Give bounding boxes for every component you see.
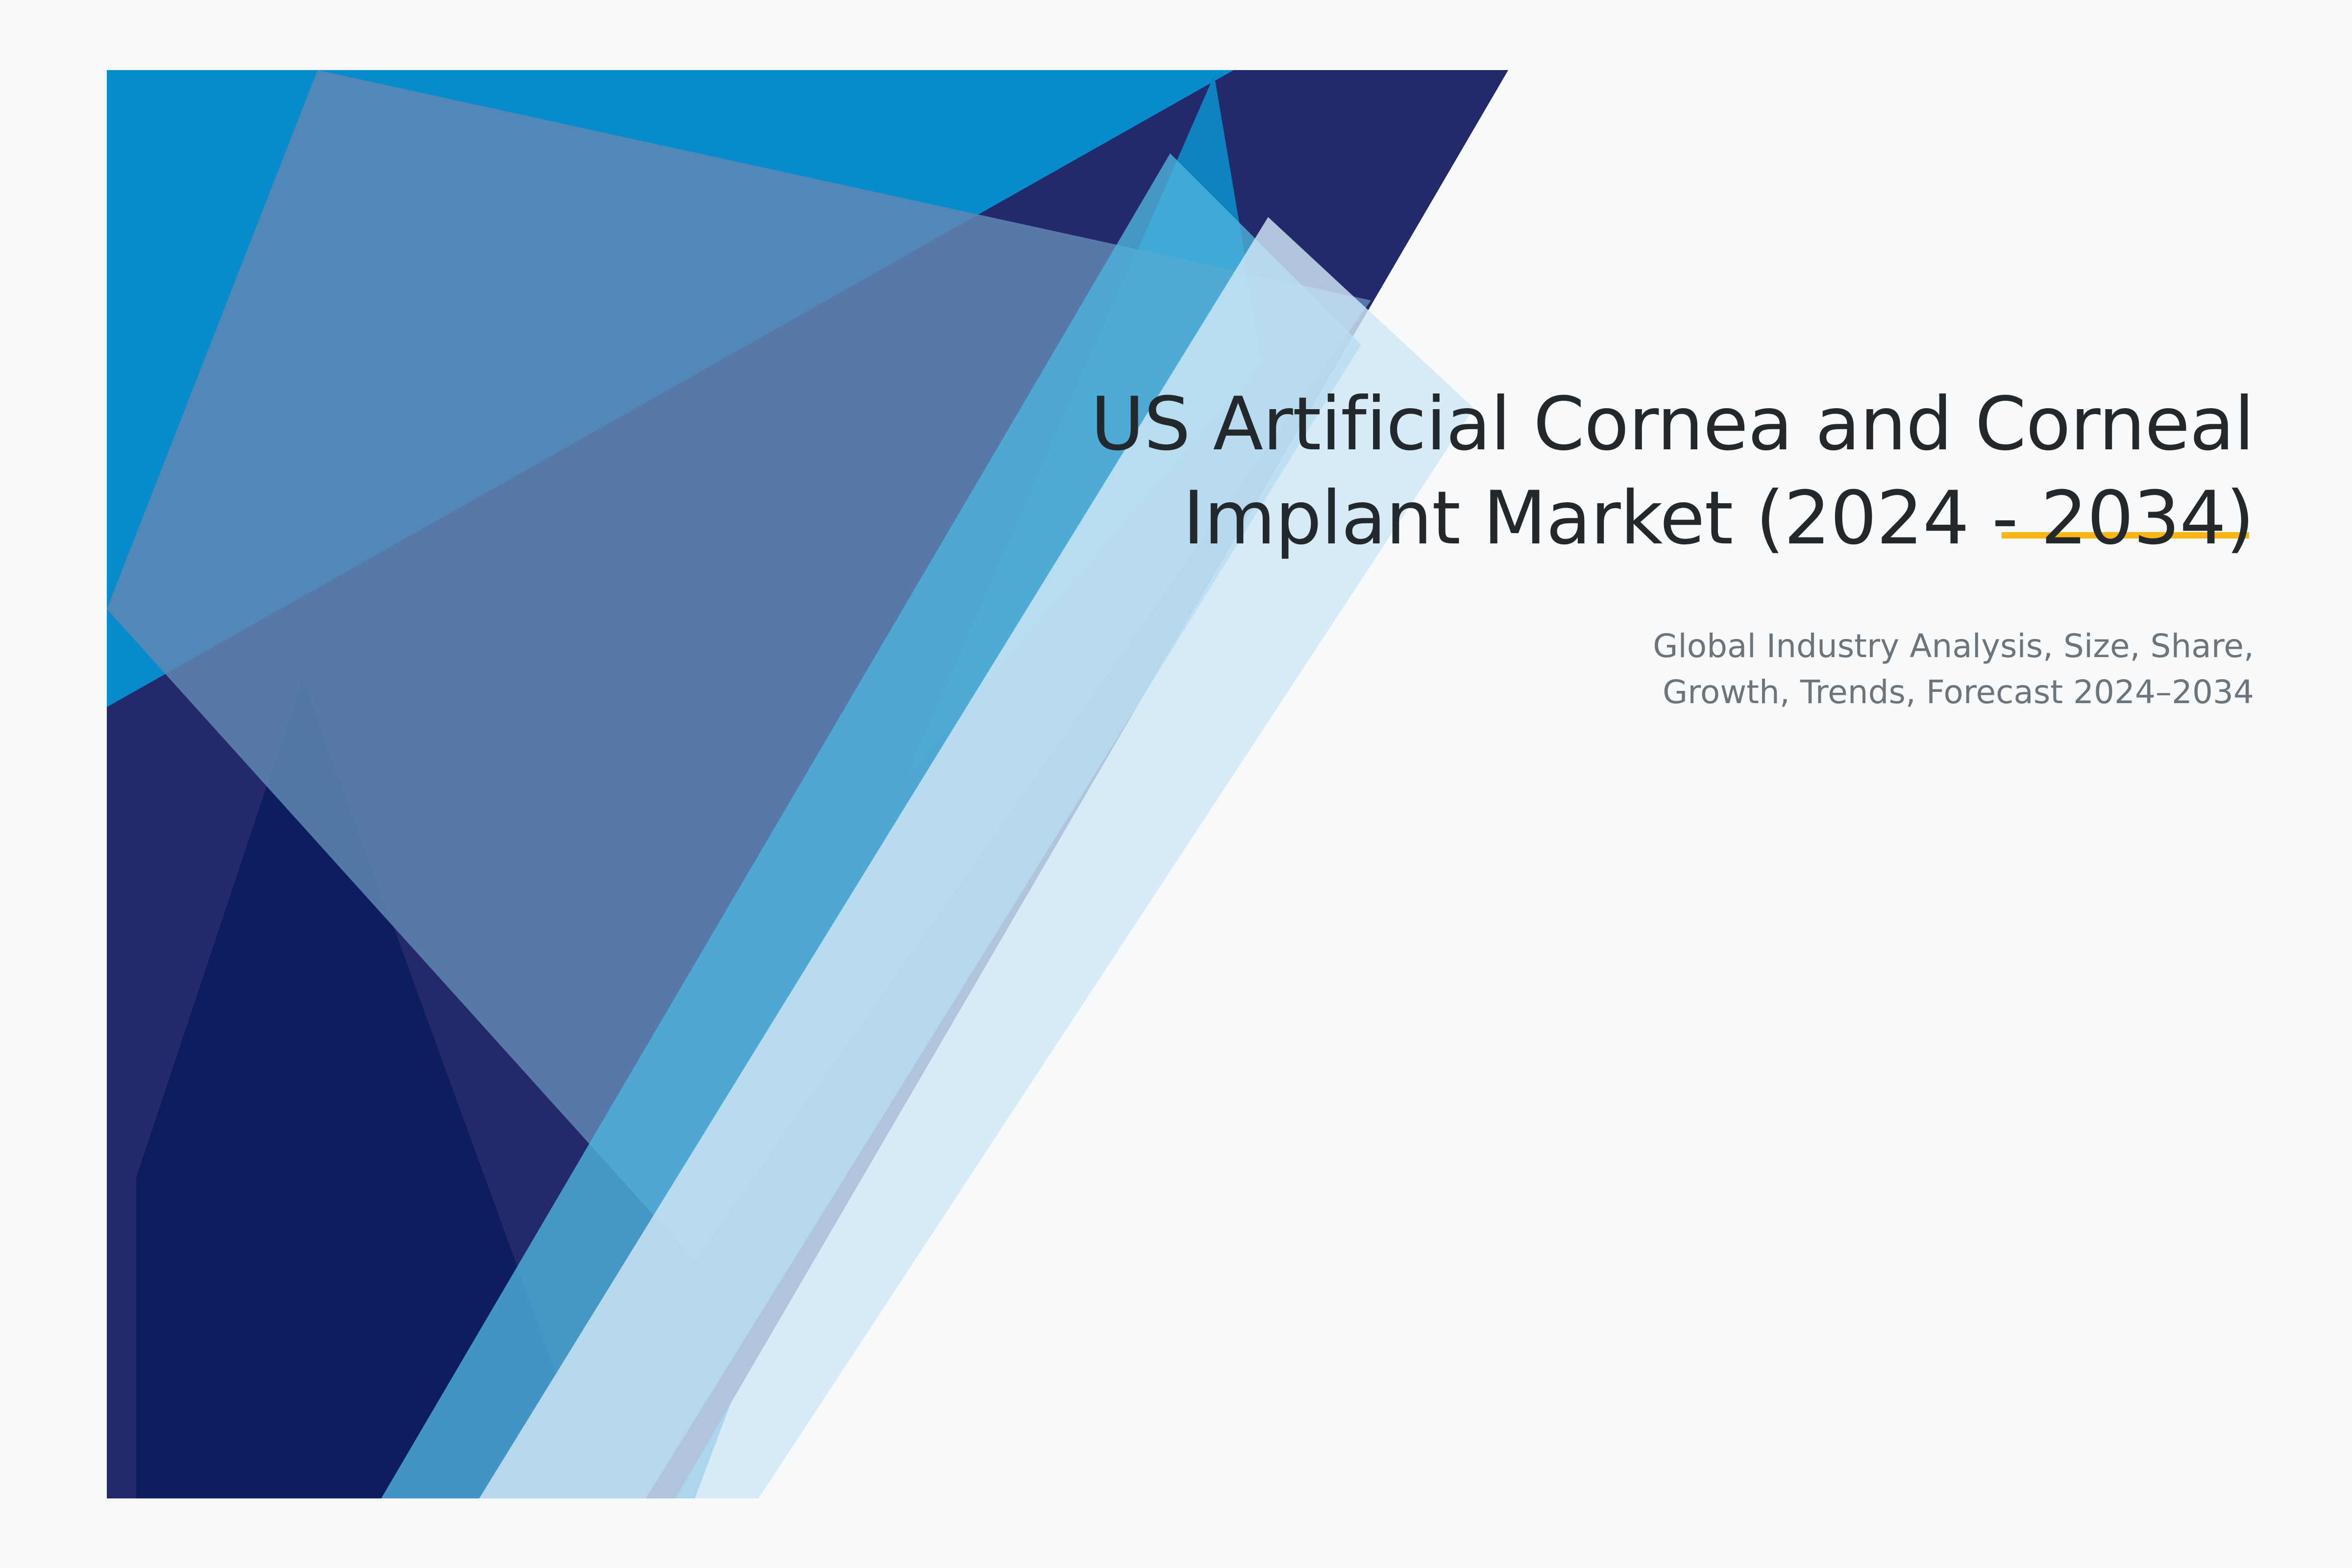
cover-page: US Artificial Cornea and Corneal Implant… [0,0,2352,1568]
cover-text-block: US Artificial Cornea and Corneal Implant… [882,377,2254,715]
page-title: US Artificial Cornea and Corneal Implant… [882,377,2254,565]
abstract-geometric-artwork [107,70,1508,1498]
page-subtitle: Global Industry Analysis, Size, Share, G… [882,565,2254,715]
artwork-svg [107,70,1508,1498]
